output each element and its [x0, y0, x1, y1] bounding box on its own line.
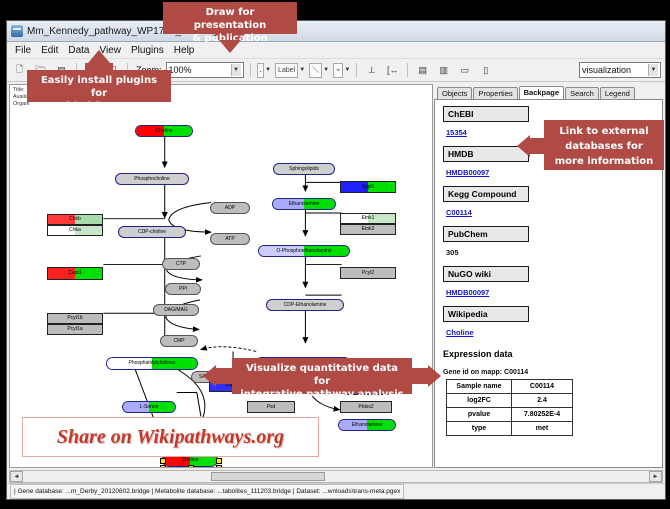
selection-handle-4[interactable] [216, 458, 222, 464]
metabolite-node-phosphatidylcholines[interactable]: Phosphatidylcholines [106, 357, 198, 370]
datanode-icon: ᎐ [257, 63, 265, 78]
node-label: Sphingolipids [289, 167, 319, 172]
node-label: ATP [225, 237, 234, 242]
chevron-down-icon[interactable]: ▼ [344, 67, 350, 73]
toolbar-separator-4 [356, 63, 357, 77]
node-label: Etnk2 [362, 227, 375, 232]
node-label: Ethanolamine [352, 423, 383, 428]
zoom-combo[interactable]: 100% ▼ [166, 62, 244, 78]
toolbar-separator-5 [407, 63, 408, 77]
node-label: ADP [225, 206, 235, 211]
metabolite-node-choline-top[interactable]: Choline [135, 125, 193, 137]
scroll-right-icon[interactable]: ► [649, 471, 662, 482]
tab-search[interactable]: Search [565, 87, 599, 99]
metabolite-node-ethanolamine-top[interactable]: Ethanolamine [272, 198, 336, 210]
callout-visualize-arrow [203, 365, 216, 387]
metabolite-node-phosphocholine[interactable]: Phosphocholine [115, 173, 189, 185]
gene-node-chkb[interactable]: Chkb [47, 214, 103, 225]
node-label: PPi [179, 287, 187, 292]
gene-node-cept1l[interactable]: Cept1 [47, 267, 103, 280]
db-header-nugo: NuGO wiki [443, 266, 529, 282]
title-bar: Mm_Kennedy_pathway_WP1771_45176.gpml [7, 21, 665, 42]
expression-data-title: Expression data [443, 349, 654, 359]
table-row: log2FC 2.4 [447, 394, 573, 408]
node-label: Phosphocholine [134, 177, 170, 182]
chevron-down-icon[interactable]: ▼ [265, 67, 271, 73]
node-label: Pcyt1b [67, 316, 82, 321]
stack-icon[interactable]: ▭ [456, 62, 473, 79]
metabolite-node-sphingolipids[interactable]: Sphingolipids [273, 163, 335, 175]
connector-icon: ⌁ [333, 63, 343, 78]
db-link-nugo[interactable]: HMDB00097 [446, 288, 489, 297]
db-link-chebi[interactable]: 15354 [446, 128, 467, 137]
callout-plugins: Easily install plugins foradded features [27, 70, 171, 102]
scroll-left-icon[interactable]: ◄ [10, 471, 23, 482]
node-label: Ethanolamine [289, 202, 320, 207]
pathway-canvas-container[interactable]: Title: Availa Organi [9, 84, 433, 468]
line-icon: ＼ [309, 63, 322, 78]
node-label: Phosphatidylcholines [129, 361, 176, 366]
label-icon: Label [275, 63, 298, 78]
chevron-down-icon[interactable]: ▼ [323, 67, 329, 73]
metabolite-node-l-serine-left[interactable]: L-Serine [122, 401, 176, 413]
node-label: Choline [182, 458, 199, 463]
node-label: Chkb [69, 217, 81, 222]
callout-link-arrow [517, 135, 530, 157]
zoom-value: 100% [169, 65, 192, 75]
metabolite-node-o-phosphoethanolamine[interactable]: O-Phosphoethanolamine [258, 245, 350, 257]
tab-properties[interactable]: Properties [473, 87, 517, 99]
selection-handle-7[interactable] [216, 465, 222, 468]
gene-node-ptdss2[interactable]: Ptdss2 [340, 401, 392, 413]
table-row: pvalue 7.80252E-4 [447, 408, 573, 422]
chevron-down-icon[interactable]: ▼ [299, 67, 305, 73]
menu-data[interactable]: Data [68, 45, 89, 56]
callout-visualize-stem-r [410, 368, 428, 384]
metabolite-node-cdp-ethanolamine[interactable]: CDP-Ethanolamine [266, 299, 344, 311]
menu-file[interactable]: File [15, 45, 31, 56]
scroll-thumb[interactable] [211, 472, 326, 481]
node-label: O-Phosphoethanolamine [276, 249, 331, 254]
node-label: CMP [173, 339, 184, 344]
menu-plugins[interactable]: Plugins [131, 45, 164, 56]
db-header-wikipedia: Wikipedia [443, 306, 529, 322]
exp-key-sample-name: Sample name [447, 380, 512, 394]
metabolite-node-adp[interactable]: ADP [210, 202, 250, 214]
chevron-down-icon[interactable]: ▼ [231, 64, 241, 76]
gene-node-pcyt1a[interactable]: Pcyt1a [47, 324, 103, 335]
menu-help[interactable]: Help [174, 45, 195, 56]
db-header-kegg: Kegg Compound [443, 186, 529, 202]
db-header-chebi: ChEBI [443, 106, 529, 122]
gene-node-psd[interactable]: Psd [247, 401, 295, 413]
db-link-hmdb[interactable]: HMDB00097 [446, 168, 489, 177]
line-tool[interactable]: ＼ ▼ [309, 63, 329, 78]
exp-val-log2fc: 2.4 [512, 394, 573, 408]
new-file-icon[interactable]: 🗋 [11, 62, 28, 79]
label-tool[interactable]: Label ▼ [275, 63, 305, 78]
node-label: CDP-choline [138, 230, 166, 235]
expression-table: Sample name C00114 log2FC 2.4 pvalue 7.8… [446, 379, 573, 436]
node-label: Etnk1 [362, 216, 375, 221]
callout-plugins-arrow [88, 50, 110, 63]
exp-val-sample-name: C00114 [512, 380, 573, 394]
metabolite-node-cmp[interactable]: CMP [160, 335, 198, 347]
side-tabs: Objects Properties Backpage Search Legen… [434, 84, 663, 99]
node-label: L-Serine [140, 405, 159, 410]
tab-legend[interactable]: Legend [600, 87, 635, 99]
order-icon[interactable]: ▯ [477, 62, 494, 79]
app-icon [11, 25, 23, 37]
exp-key-pvalue: pvalue [447, 408, 512, 422]
anchor-icon[interactable]: ⟂ [363, 62, 380, 79]
table-row: type met [447, 422, 573, 436]
gene-node-sgpl1[interactable]: Sgpl1 [340, 181, 396, 193]
metabolite-node-ethanolamine-right[interactable]: Ethanolamine [338, 419, 396, 431]
node-label: CTP [176, 262, 186, 267]
chevron-down-icon[interactable]: ▼ [648, 64, 658, 76]
callout-visualize-arrow-r [428, 365, 441, 387]
metabolite-node-ctp[interactable]: CTP [162, 258, 200, 270]
node-label: CDP-Ethanolamine [284, 303, 327, 308]
node-label: Cept1 [68, 271, 81, 276]
align-icon[interactable]: ▤ [414, 62, 431, 79]
callout-draw-arrow [219, 40, 241, 53]
metabolite-node-dag-mag[interactable]: DAG/MAG [153, 304, 199, 316]
gene-node-chka[interactable]: Chka [47, 225, 103, 236]
exp-key-type: type [447, 422, 512, 436]
db-value-pubchem: 305 [446, 248, 459, 257]
table-row: Sample name C00114 [447, 380, 573, 394]
tab-backpage[interactable]: Backpage [519, 86, 564, 99]
selection-handle-3[interactable] [160, 458, 166, 464]
node-label: Pcyt1a [67, 327, 82, 332]
node-label: Pcyt2 [362, 271, 375, 276]
node-label: DAG/MAG [164, 308, 188, 313]
exp-key-log2fc: log2FC [447, 394, 512, 408]
toolbar-separator-3 [250, 63, 251, 77]
status-text: | Gene database: ...m_Derby_20120602.bri… [10, 484, 404, 499]
callout-share: Share on Wikipathways.org [22, 417, 319, 457]
gene-node-etnk1[interactable]: Etnk1 [340, 213, 396, 224]
callout-link: Link to externaldatabases formore inform… [544, 120, 664, 170]
distribute-icon[interactable]: ▥ [435, 62, 452, 79]
selection-handle-5[interactable] [160, 465, 166, 468]
metabolite-node-cdp-choline[interactable]: CDP-choline [118, 226, 186, 238]
visualization-combo[interactable]: visualization ▼ [579, 62, 661, 78]
callout-visualize: Visualize quantitative data forintegrati… [232, 358, 412, 394]
db-link-kegg[interactable]: C00114 [446, 208, 472, 217]
pathway-canvas[interactable]: Title: Availa Organi [10, 85, 432, 467]
bracket-icon[interactable]: [↔ [384, 62, 401, 79]
scroll-track[interactable] [23, 472, 649, 481]
datanode-tool[interactable]: ᎐ ▼ [257, 63, 272, 78]
metabolite-node-ppi[interactable]: PPi [165, 283, 201, 295]
horizontal-scrollbar[interactable]: ◄ ► [9, 470, 663, 483]
menu-edit[interactable]: Edit [41, 45, 58, 56]
callout-draw: Draw for presentation& publication [163, 2, 297, 34]
gene-node-pcyt2[interactable]: Pcyt2 [340, 267, 396, 279]
node-label: Chka [69, 228, 81, 233]
node-label: Sgpl1 [362, 185, 375, 190]
exp-val-pvalue: 7.80252E-4 [512, 408, 573, 422]
visualization-value: visualization [582, 65, 631, 75]
db-header-pubchem: PubChem [443, 226, 529, 242]
share-text: Share on Wikipathways.org [57, 426, 284, 449]
exp-val-type: met [512, 422, 573, 436]
tab-objects[interactable]: Objects [437, 87, 472, 99]
gene-node-pcyt1b[interactable]: Pcyt1b [47, 313, 103, 324]
gene-id-line: Gene id on mapp: C00114 [443, 369, 654, 376]
screenshot-root: Mm_Kennedy_pathway_WP1771_45176.gpml Fil… [0, 0, 670, 509]
node-label: Ptdss2 [358, 405, 373, 410]
db-link-wikipedia[interactable]: Choline [446, 328, 474, 337]
selection-handle-6[interactable] [188, 465, 194, 468]
metabolite-node-atp[interactable]: ATP [210, 233, 250, 245]
connector-tool[interactable]: ⌁ ▼ [333, 63, 350, 78]
gene-node-etnk2[interactable]: Etnk2 [340, 224, 396, 235]
node-label: Choline [156, 129, 173, 134]
status-bar: | Gene database: ...m_Derby_20120602.bri… [7, 483, 665, 499]
node-label: Psd [267, 405, 276, 410]
